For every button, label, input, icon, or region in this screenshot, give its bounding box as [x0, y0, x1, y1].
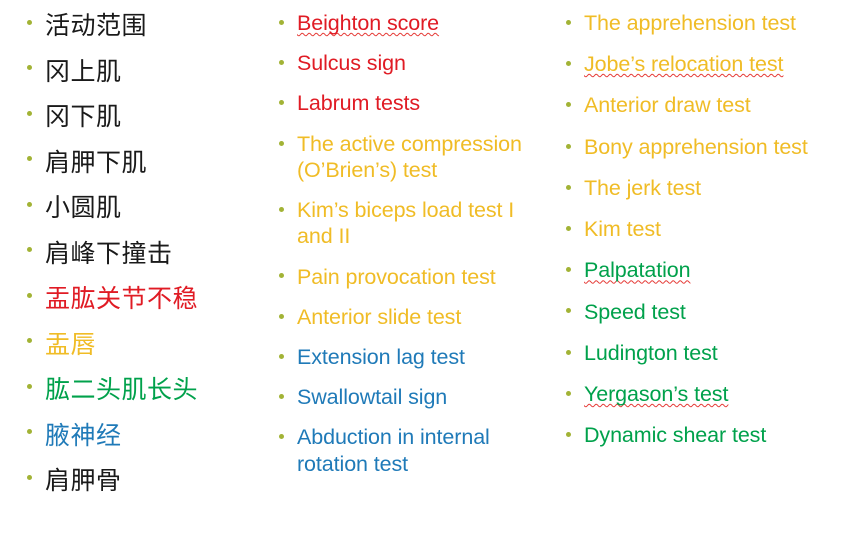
bullet-list-left: 活动范围冈上肌冈下肌肩胛下肌小圆肌肩峰下撞击盂肱关节不稳盂唇肱二头肌长头腋神经肩… [27, 10, 259, 498]
list-item[interactable]: Speed test [566, 299, 852, 325]
bullet-dot-icon [566, 391, 571, 396]
list-item[interactable]: 肱二头肌长头 [27, 374, 259, 407]
list-item[interactable]: 肩峰下撞击 [27, 238, 259, 271]
list-item[interactable]: Anterior draw test [566, 92, 852, 118]
bullet-dot-icon [566, 61, 571, 66]
bullet-dot-icon [566, 185, 571, 190]
list-item[interactable]: 冈下肌 [27, 101, 259, 134]
list-item-label: Abduction in internal rotation test [297, 424, 542, 476]
list-item-label: The active compression (O’Brien’s) test [297, 131, 542, 183]
bullet-dot-icon [279, 141, 284, 146]
list-item-label: Pain provocation test [297, 264, 542, 290]
list-item-label: Bony apprehension test [584, 134, 852, 160]
list-item-label: Dynamic shear test [584, 422, 852, 448]
list-item[interactable]: 肩胛下肌 [27, 147, 259, 180]
list-item[interactable]: 肩胛骨 [27, 465, 259, 498]
list-item[interactable]: 盂肱关节不稳 [27, 283, 259, 316]
bullet-dot-icon [566, 144, 571, 149]
list-item-label: 肩胛下肌 [45, 147, 259, 180]
bullet-dot-icon [27, 429, 32, 434]
list-item-label: 肩峰下撞击 [45, 238, 259, 271]
list-item-label: Kim’s biceps load test I and II [297, 197, 542, 249]
bullet-dot-icon [27, 293, 32, 298]
bullet-dot-icon [27, 20, 32, 25]
list-item-label: Extension lag test [297, 344, 542, 370]
list-item-label: Ludington test [584, 340, 852, 366]
bullet-dot-icon [566, 267, 571, 272]
list-item-label: 肱二头肌长头 [45, 374, 259, 407]
bullet-dot-icon [279, 60, 284, 65]
list-item[interactable]: Kim’s biceps load test I and II [279, 197, 542, 249]
list-item[interactable]: Jobe’s relocation test [566, 51, 852, 77]
column-left: 活动范围冈上肌冈下肌肩胛下肌小圆肌肩峰下撞击盂肱关节不稳盂唇肱二头肌长头腋神经肩… [0, 0, 265, 540]
list-item[interactable]: Palpatation [566, 257, 852, 283]
list-item-label: Anterior draw test [584, 92, 852, 118]
bullet-dot-icon [566, 226, 571, 231]
list-item[interactable]: 活动范围 [27, 10, 259, 43]
list-item[interactable]: 小圆肌 [27, 192, 259, 225]
list-item[interactable]: Anterior slide test [279, 304, 542, 330]
list-item[interactable]: Abduction in internal rotation test [279, 424, 542, 476]
bullet-dot-icon [566, 102, 571, 107]
column-middle: Beighton scoreSulcus signLabrum testsThe… [265, 0, 550, 540]
list-item[interactable]: The jerk test [566, 175, 852, 201]
slide-content-area: 活动范围冈上肌冈下肌肩胛下肌小圆肌肩峰下撞击盂肱关节不稳盂唇肱二头肌长头腋神经肩… [0, 0, 858, 540]
bullet-dot-icon [27, 384, 32, 389]
list-item-label: The jerk test [584, 175, 852, 201]
list-item-label: 盂唇 [45, 329, 259, 362]
list-item[interactable]: Labrum tests [279, 90, 542, 116]
bullet-dot-icon [27, 247, 32, 252]
column-right: The apprehension testJobe’s relocation t… [550, 0, 858, 540]
list-item-label: 冈上肌 [45, 56, 259, 89]
list-item[interactable]: Extension lag test [279, 344, 542, 370]
list-item[interactable]: Bony apprehension test [566, 134, 852, 160]
list-item[interactable]: Beighton score [279, 10, 542, 36]
list-item[interactable]: Kim test [566, 216, 852, 242]
bullet-dot-icon [279, 314, 284, 319]
bullet-dot-icon [566, 350, 571, 355]
list-item-label: Beighton score [297, 10, 542, 36]
bullet-dot-icon [566, 432, 571, 437]
bullet-dot-icon [279, 207, 284, 212]
list-item-label: The apprehension test [584, 10, 852, 36]
list-item[interactable]: 冈上肌 [27, 56, 259, 89]
list-item[interactable]: Swallowtail sign [279, 384, 542, 410]
list-item-label: Palpatation [584, 257, 852, 283]
list-item-label: Swallowtail sign [297, 384, 542, 410]
bullet-list-middle: Beighton scoreSulcus signLabrum testsThe… [279, 10, 542, 477]
list-item-label: Speed test [584, 299, 852, 325]
list-item[interactable]: Ludington test [566, 340, 852, 366]
bullet-dot-icon [27, 156, 32, 161]
bullet-dot-icon [27, 475, 32, 480]
bullet-dot-icon [27, 338, 32, 343]
bullet-dot-icon [27, 65, 32, 70]
list-item-label: Yergason’s test [584, 381, 852, 407]
list-item[interactable]: 盂唇 [27, 329, 259, 362]
bullet-dot-icon [566, 20, 571, 25]
list-item-label: Jobe’s relocation test [584, 51, 852, 77]
bullet-dot-icon [279, 273, 284, 278]
bullet-dot-icon [279, 100, 284, 105]
list-item-label: Labrum tests [297, 90, 542, 116]
list-item-label: 活动范围 [45, 10, 259, 43]
bullet-dot-icon [566, 308, 571, 313]
list-item[interactable]: The active compression (O’Brien’s) test [279, 131, 542, 183]
list-item[interactable]: Pain provocation test [279, 264, 542, 290]
list-item[interactable]: The apprehension test [566, 10, 852, 36]
bullet-dot-icon [279, 394, 284, 399]
bullet-dot-icon [279, 354, 284, 359]
list-item-label: 肩胛骨 [45, 465, 259, 498]
bullet-dot-icon [279, 434, 284, 439]
list-item-label: 腋神经 [45, 420, 259, 453]
list-item[interactable]: Sulcus sign [279, 50, 542, 76]
list-item[interactable]: 腋神经 [27, 420, 259, 453]
bullet-dot-icon [279, 20, 284, 25]
list-item[interactable]: Dynamic shear test [566, 422, 852, 448]
list-item-label: Sulcus sign [297, 50, 542, 76]
list-item-label: Anterior slide test [297, 304, 542, 330]
list-item-label: 小圆肌 [45, 192, 259, 225]
list-item-label: 盂肱关节不稳 [45, 283, 259, 316]
bullet-dot-icon [27, 202, 32, 207]
list-item-label: 冈下肌 [45, 101, 259, 134]
list-item-label: Kim test [584, 216, 852, 242]
list-item[interactable]: Yergason’s test [566, 381, 852, 407]
bullet-list-right: The apprehension testJobe’s relocation t… [566, 10, 852, 448]
bullet-dot-icon [27, 111, 32, 116]
